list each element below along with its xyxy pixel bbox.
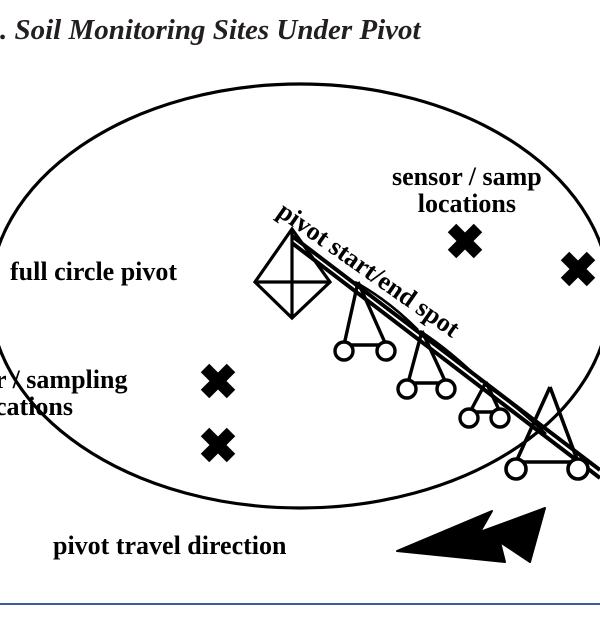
label-sensor-sampling-left-line2: ocations [0, 393, 127, 420]
figure-page: . Soil Monitoring Sites Under Pivot [0, 0, 600, 620]
sensor-x-mark-3 [205, 368, 231, 394]
label-sensor-sampling-right-line1: sensor / samp [392, 163, 542, 190]
label-sensor-sampling-left: or / sampling ocations [0, 366, 127, 421]
label-sensor-sampling-left-line1: or / sampling [0, 366, 127, 393]
pivot-tower-4 [506, 387, 588, 479]
bottom-divider-rule [0, 603, 600, 605]
label-full-circle-pivot: full circle pivot [10, 258, 177, 285]
label-sensor-sampling-right-line2: locations [392, 190, 542, 217]
sensor-x-mark-2 [565, 256, 591, 282]
pivot-field-diagram [0, 0, 600, 620]
travel-direction-arrow [397, 508, 545, 562]
sensor-x-mark-4 [205, 432, 231, 458]
sensor-x-mark-1 [452, 228, 478, 254]
label-pivot-travel-direction: pivot travel direction [53, 532, 286, 559]
label-sensor-sampling-right: sensor / samp locations [392, 163, 542, 218]
